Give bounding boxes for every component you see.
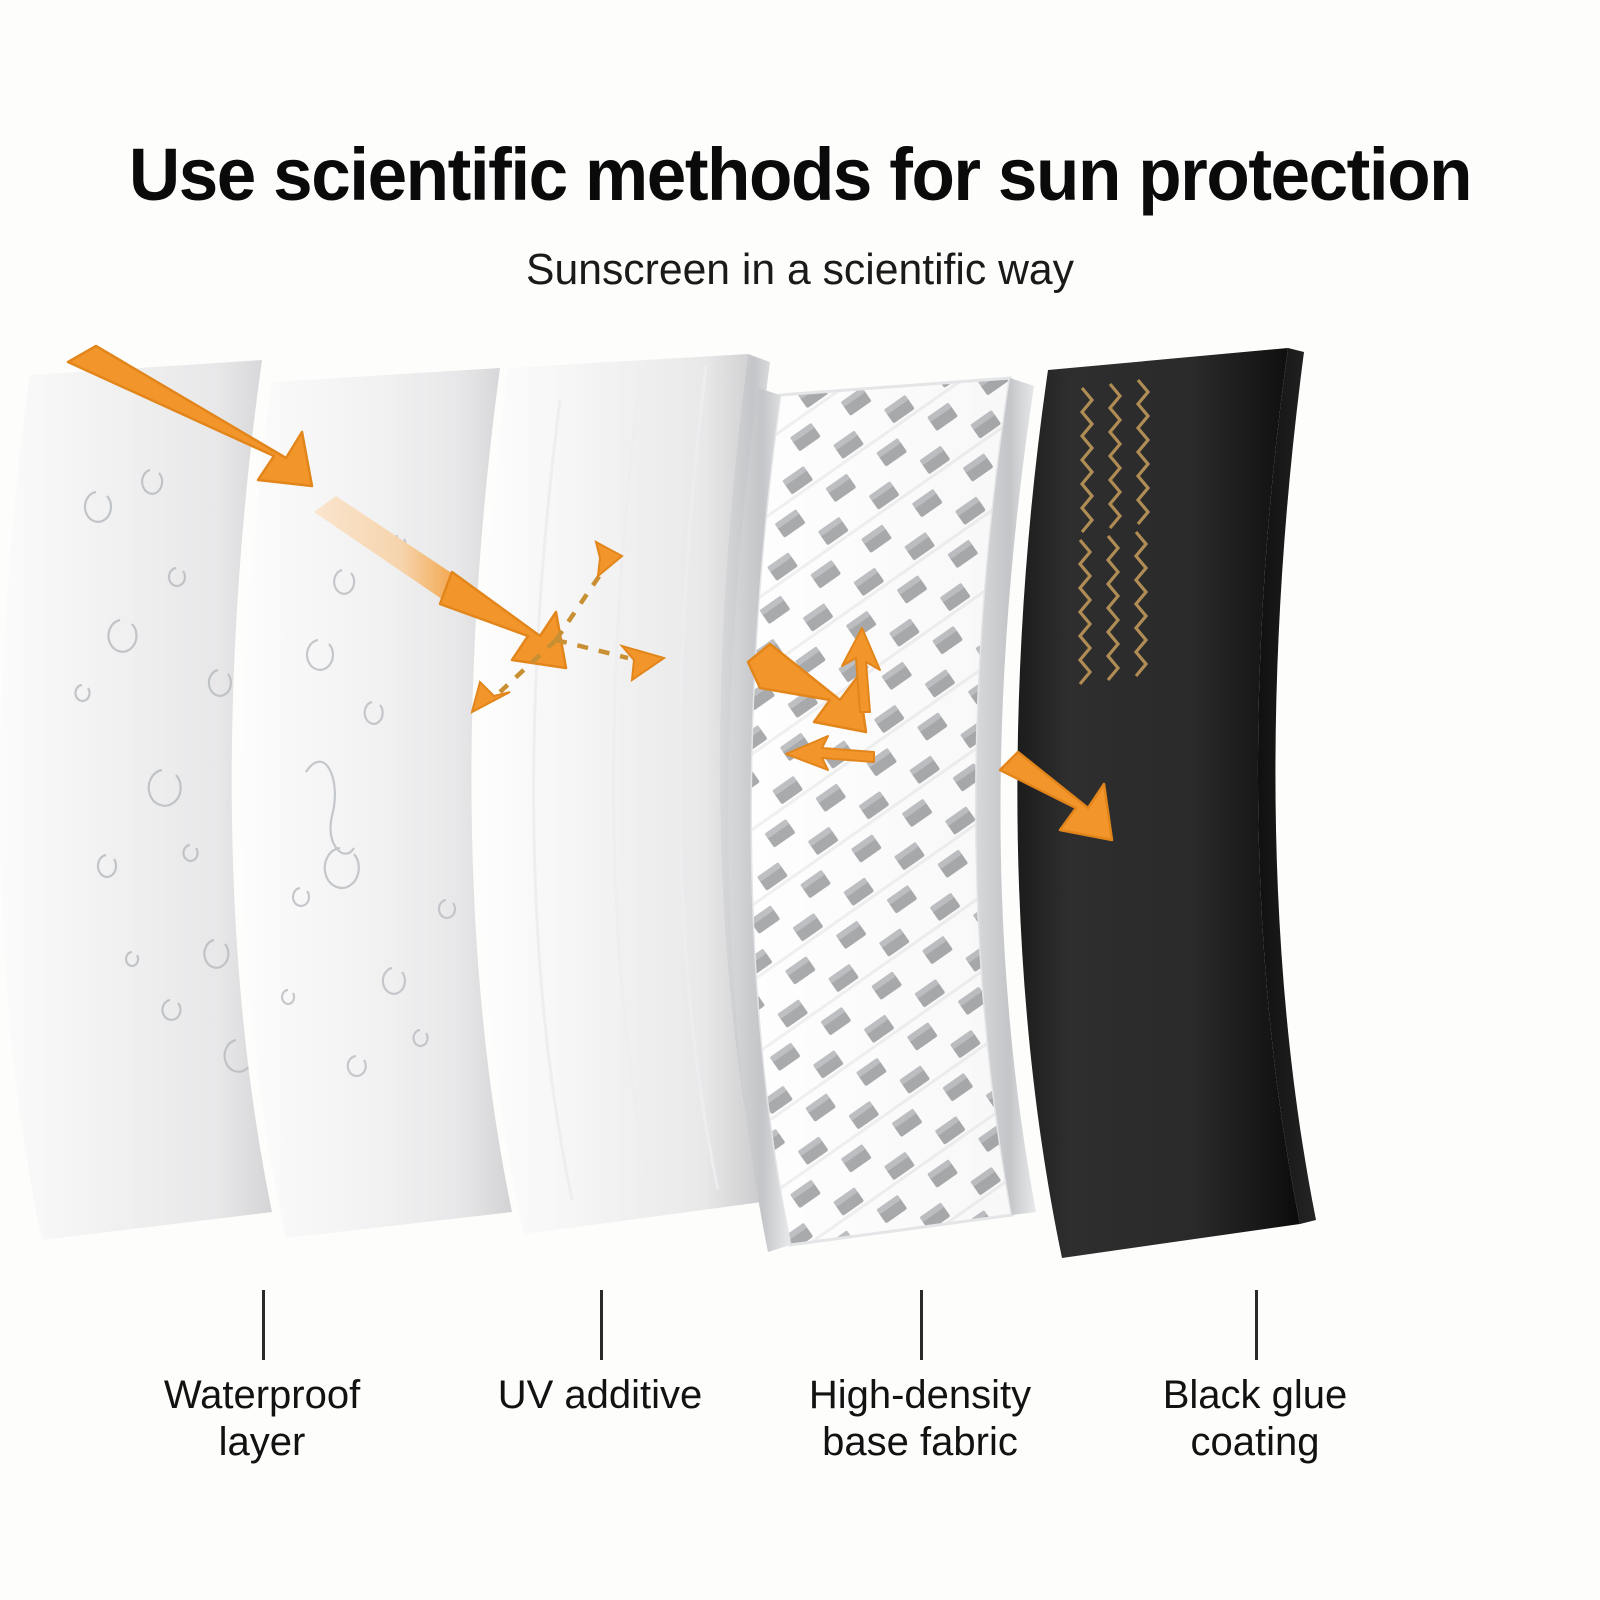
legend-label-line2: coating — [1163, 1419, 1348, 1466]
header: Use scientific methods for sun protectio… — [0, 0, 1600, 292]
legend-tick — [600, 1290, 603, 1360]
legend-label-line1: Waterproof — [164, 1373, 360, 1417]
legend-label-line1: Black glue — [1163, 1373, 1348, 1417]
legend: Waterproof layer UV additive High-densit… — [0, 1280, 1600, 1540]
legend-tick — [920, 1290, 923, 1360]
page-subtitle: Sunscreen in a scientific way — [24, 248, 1576, 292]
legend-tick — [262, 1290, 265, 1360]
layer-black-glue-coating — [1017, 348, 1316, 1258]
legend-label-line1: UV additive — [498, 1373, 703, 1417]
legend-label-line2: layer — [164, 1419, 360, 1466]
legend-tick — [1255, 1290, 1258, 1360]
layer-diagram — [0, 340, 1600, 1300]
legend-label-line2: base fabric — [809, 1419, 1031, 1466]
legend-label: High-density base fabric — [809, 1372, 1031, 1466]
legend-label-line1: High-density — [809, 1373, 1031, 1417]
legend-label: Waterproof layer — [164, 1372, 360, 1466]
page-title: Use scientific methods for sun protectio… — [32, 138, 1568, 212]
layer-diagram-svg — [0, 340, 1600, 1300]
layer-waterproof-inner — [242, 368, 512, 1238]
layer-waterproof-outer — [0, 360, 272, 1240]
legend-label: Black glue coating — [1163, 1372, 1348, 1466]
infographic-root: Use scientific methods for sun protectio… — [0, 0, 1600, 1600]
legend-label: UV additive — [498, 1372, 703, 1419]
